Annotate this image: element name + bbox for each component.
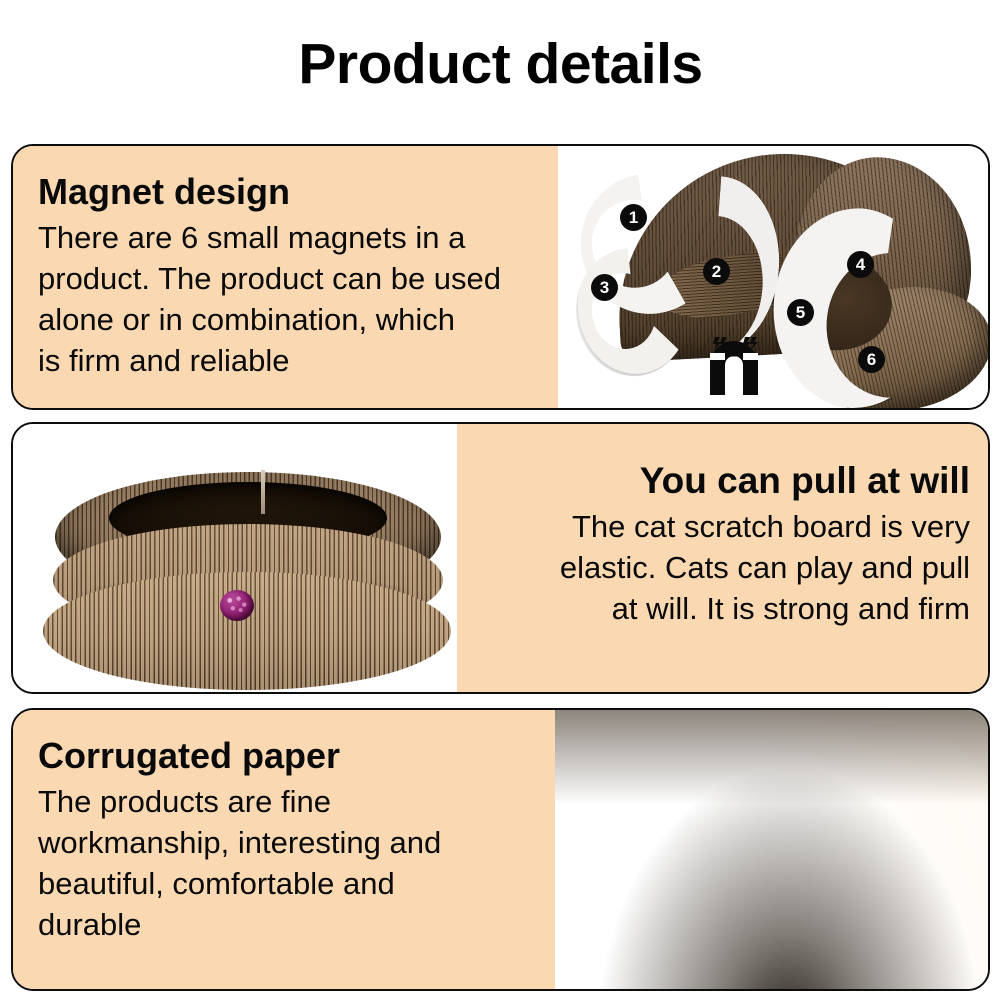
callout-badge-2: 2 xyxy=(703,258,730,285)
callout-badge-4: 4 xyxy=(847,251,874,278)
callout-badge-3: 3 xyxy=(591,274,618,301)
panel-1-body-line-3: alone or in combination, which xyxy=(38,300,558,341)
panel-2-body-line-3: at will. It is strong and firm xyxy=(500,589,970,630)
panel-1-body-line-4: is firm and reliable xyxy=(38,341,558,382)
panel-1-text-block: Magnet design There are 6 small magnets … xyxy=(38,172,558,382)
oval-scratcher-photo xyxy=(13,424,457,692)
panel-corrugated-paper: Corrugated paper The products are fine w… xyxy=(11,708,990,991)
panel-pull-at-will: You can pull at will The cat scratch boa… xyxy=(11,422,990,694)
panel-3-body-line-2: workmanship, interesting and xyxy=(38,823,538,864)
panel-3-body-line-4: durable xyxy=(38,905,538,946)
panel-2-text-block: You can pull at will The cat scratch boa… xyxy=(500,460,970,630)
panel-3-body-line-3: beautiful, comfortable and xyxy=(38,864,538,905)
scratcher-lower-band xyxy=(43,572,451,690)
callout-badge-6: 6 xyxy=(858,346,885,373)
magnet-product-photo: 1 2 3 4 5 6 xyxy=(558,146,988,408)
page-title: Product details xyxy=(0,36,1001,93)
panel-3-text-block: Corrugated paper The products are fine w… xyxy=(38,736,538,946)
scratcher-seam xyxy=(261,470,265,514)
panel-1-heading: Magnet design xyxy=(38,172,558,212)
panel-magnet-design: Magnet design There are 6 small magnets … xyxy=(11,144,990,410)
panel-2-body-line-1: The cat scratch board is very xyxy=(500,507,970,548)
panel-1-body-line-2: product. The product can be used xyxy=(38,259,558,300)
panel-3-body: The products are fine workmanship, inter… xyxy=(38,782,538,946)
horseshoe-magnet-icon xyxy=(704,331,764,397)
panel-2-heading: You can pull at will xyxy=(500,460,970,501)
purple-bell-ball xyxy=(220,590,254,621)
callout-badge-5: 5 xyxy=(787,299,814,326)
panel-1-body: There are 6 small magnets in a product. … xyxy=(38,218,558,382)
callout-badge-1: 1 xyxy=(620,204,647,231)
panel-2-body-line-2: elastic. Cats can play and pull xyxy=(500,548,970,589)
panel-1-body-line-1: There are 6 small magnets in a xyxy=(38,218,558,259)
panel-3-heading: Corrugated paper xyxy=(38,736,538,776)
corrugated-texture-photo xyxy=(555,710,988,989)
panel-2-body: The cat scratch board is very elastic. C… xyxy=(500,507,970,630)
corrugated-fan-shading xyxy=(555,710,988,989)
panel-3-body-line-1: The products are fine xyxy=(38,782,538,823)
